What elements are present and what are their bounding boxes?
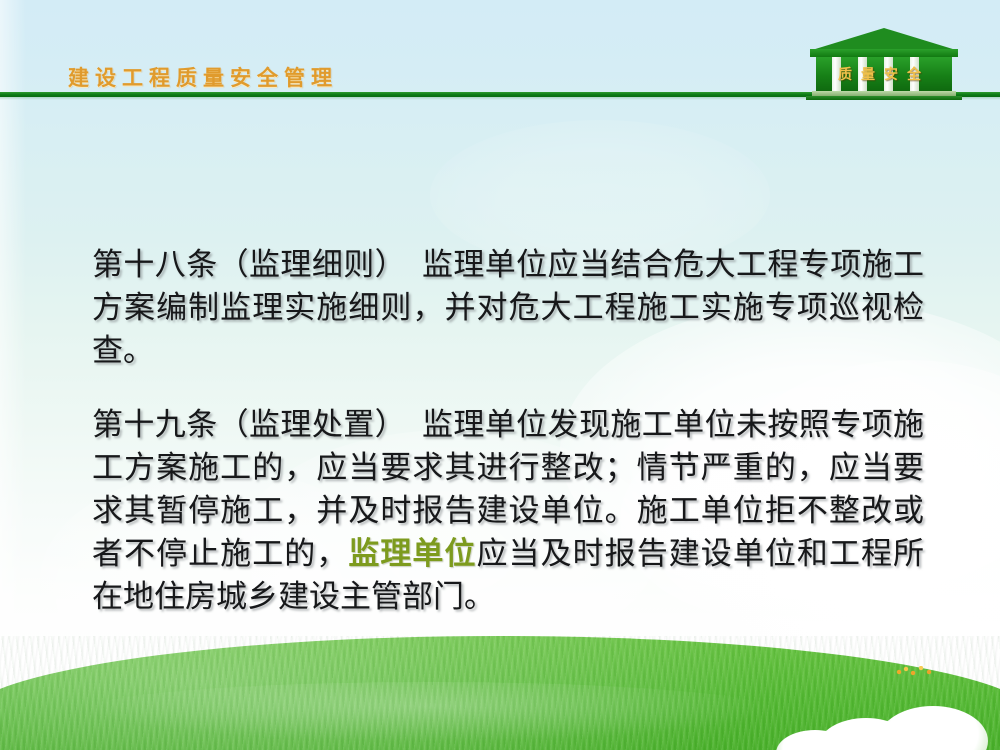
temple-logo: 质量安全 [806,28,962,100]
grass-decoration [0,620,1000,750]
grass-ridge [80,682,780,742]
logo-label: 质量安全 [818,64,950,84]
paragraph-article-19: 第十九条（监理处置） 监理单位发现施工单位未按照专项施工方案施工的，应当要求其进… [92,403,924,618]
flowers-icon [896,666,936,678]
slide: 建设工程质量安全管理 质量安全 第十八条（监理细则） 监理单位应当结合危大工程专… [0,0,1000,750]
paragraph-text: 第十八条（监理细则） 监理单位应当结合危大工程专项施工方案编制监理实施细则，并对… [92,247,924,368]
temple-roof-icon [812,28,956,50]
temple-plinth-icon [806,96,962,100]
page-title: 建设工程质量安全管理 [68,62,338,92]
paragraph-article-18: 第十八条（监理细则） 监理单位应当结合危大工程专项施工方案编制监理实施细则，并对… [92,243,924,372]
highlighted-term: 监理单位 [348,536,476,571]
slide-header: 建设工程质量安全管理 质量安全 [0,0,1000,100]
temple-architrave-icon [810,49,958,57]
slide-body: 第十八条（监理细则） 监理单位应当结合危大工程专项施工方案编制监理实施细则，并对… [92,212,924,649]
